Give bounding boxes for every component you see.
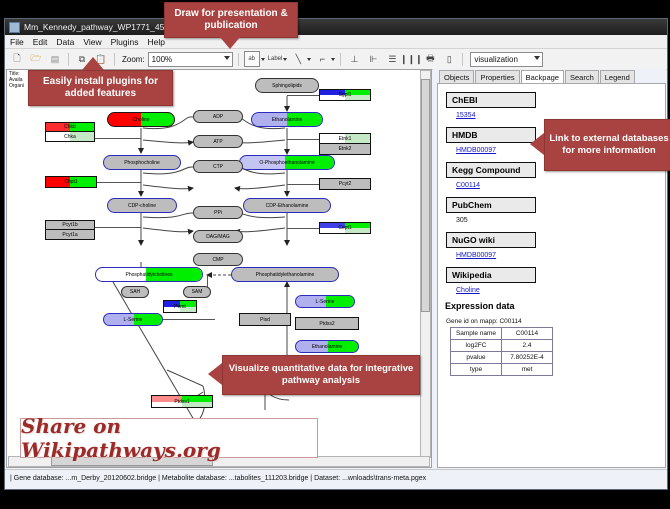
table-row: log2FC 2.4 bbox=[451, 340, 553, 352]
node-ethanolamine[interactable]: Ethanolamine bbox=[251, 112, 323, 127]
database-link[interactable]: Choline bbox=[456, 287, 665, 294]
scrollbar-thumb[interactable] bbox=[421, 79, 430, 313]
database-block-nugo: NuGO wiki HMDB00097 bbox=[446, 230, 665, 259]
database-link[interactable]: HMDB00097 bbox=[456, 252, 665, 259]
database-block-wikipedia: Wikipedia Choline bbox=[446, 265, 665, 294]
gene-chkb[interactable]: Chkb bbox=[45, 122, 95, 132]
node-sah[interactable]: SAH bbox=[121, 286, 149, 298]
node-label: Chkb bbox=[64, 124, 76, 130]
callout-visualize-quantitative: Visualize quantitative data for integrat… bbox=[222, 355, 420, 395]
group-icon[interactable]: ⊩ bbox=[365, 51, 381, 67]
gene-cept1[interactable]: Cept1 bbox=[319, 222, 371, 234]
node-phosphatidylcholines[interactable]: Phosphatidylcholines bbox=[95, 267, 203, 282]
connector-line bbox=[95, 182, 141, 183]
menu-item-help[interactable]: Help bbox=[148, 37, 165, 47]
node-label: Pcyt1a bbox=[62, 232, 77, 238]
table-row: Sample name C00114 bbox=[451, 328, 553, 340]
node-label: Ethanolamine bbox=[312, 344, 343, 350]
node-label: DAG/MAG bbox=[206, 234, 230, 240]
gene-sgpl1[interactable]: Sgpl1 bbox=[319, 89, 371, 101]
table-cell-value: met bbox=[502, 364, 553, 376]
connector-line bbox=[95, 227, 141, 228]
node-label: Pcyt2 bbox=[339, 181, 352, 187]
callout-arrow-down bbox=[219, 36, 241, 49]
callout-external-databases: Link to external databases for more info… bbox=[544, 119, 670, 171]
pathway-info-block: Title: Availa Organi bbox=[9, 71, 24, 89]
gene-pemt[interactable]: Pemt bbox=[163, 300, 197, 313]
node-label: Pemt bbox=[174, 304, 186, 310]
node-label: PPi bbox=[214, 210, 222, 216]
table-cell-value: 2.4 bbox=[502, 340, 553, 352]
align-icon[interactable]: ⊥ bbox=[346, 51, 362, 67]
toolbar-separator-1 bbox=[68, 53, 69, 66]
node-label: Sphingolipids bbox=[272, 83, 302, 89]
tab-legend[interactable]: Legend bbox=[600, 70, 635, 83]
node-label: L-Serine bbox=[124, 317, 143, 323]
node-label: SAH bbox=[130, 289, 140, 295]
tab-properties[interactable]: Properties bbox=[475, 70, 519, 83]
table-cell-value: 7.80252E-4 bbox=[502, 352, 553, 364]
node-choline-top[interactable]: Choline bbox=[107, 112, 175, 127]
gene-pisd[interactable]: Pisd bbox=[239, 313, 291, 326]
expression-data-table: Sample name C00114 log2FC 2.4 pvalue 7.8… bbox=[450, 327, 553, 376]
node-label: Choline bbox=[133, 117, 150, 123]
node-label: CMP bbox=[212, 257, 223, 263]
label-icon: Label bbox=[268, 56, 283, 62]
callout-share-wikipathways: Share on Wikipathways.org bbox=[20, 418, 318, 458]
node-label: CTP bbox=[213, 164, 223, 170]
gene-chka[interactable]: Chka bbox=[45, 132, 95, 142]
connector-line bbox=[95, 138, 141, 139]
table-cell-value: C00114 bbox=[502, 328, 553, 340]
chevron-down-icon bbox=[224, 56, 230, 60]
toolbar-separator-4 bbox=[340, 53, 341, 66]
gene-etnk2[interactable]: Etnk2 bbox=[319, 144, 371, 155]
node-l-serine-1[interactable]: L-Serine bbox=[103, 313, 163, 326]
connector-line bbox=[287, 95, 319, 96]
connector-line bbox=[287, 228, 319, 229]
node-label: Chka bbox=[64, 134, 76, 140]
app-icon bbox=[9, 22, 20, 33]
database-header: Kegg Compound bbox=[446, 162, 536, 178]
tab-backpage[interactable]: Backpage bbox=[521, 70, 564, 84]
line-icon: ╲ bbox=[290, 51, 306, 67]
table-cell-key: log2FC bbox=[451, 340, 502, 352]
toolbar-separator-3 bbox=[238, 53, 239, 66]
visualization-combobox[interactable]: visualization bbox=[470, 52, 543, 67]
node-label: ATP bbox=[213, 139, 222, 145]
database-header: NuGO wiki bbox=[446, 232, 536, 248]
connector-line bbox=[287, 184, 319, 185]
chevron-down-icon bbox=[331, 58, 335, 61]
database-value: 305 bbox=[456, 217, 665, 224]
node-ethanolamine-2[interactable]: Ethanolamine bbox=[295, 340, 359, 353]
text-tool-button[interactable]: ab bbox=[244, 51, 265, 67]
menu-item-view[interactable]: View bbox=[83, 37, 101, 47]
print-icon[interactable]: 🖶 bbox=[422, 51, 438, 67]
node-atp[interactable]: ATP bbox=[193, 135, 243, 148]
info-organism: Organi bbox=[9, 83, 24, 89]
database-header: PubChem bbox=[446, 197, 536, 213]
node-ctp[interactable]: CTP bbox=[193, 160, 243, 173]
chevron-down-icon bbox=[261, 58, 265, 61]
gene-pcyt2[interactable]: Pcyt2 bbox=[319, 178, 371, 190]
save-file-icon[interactable]: ▤ bbox=[47, 51, 63, 67]
database-link[interactable]: C00114 bbox=[456, 182, 665, 189]
gene-id-line: Gene id on mapp: C00114 bbox=[446, 318, 665, 325]
node-phosphocholine[interactable]: Phosphocholine bbox=[103, 155, 181, 170]
connector-line bbox=[287, 139, 319, 140]
node-label: Pcyt1b bbox=[62, 222, 77, 228]
callout-arrow-left bbox=[208, 363, 222, 385]
gene-chpt1[interactable]: Chpt1 bbox=[45, 176, 97, 188]
statusbar: | Gene database: ...m_Derby_20120602.bri… bbox=[5, 469, 667, 489]
node-label: Ptdss1 bbox=[174, 399, 189, 405]
zoom-combobox[interactable]: 100% bbox=[148, 52, 233, 67]
menubar: File Edit Data View Plugins Help bbox=[5, 35, 667, 49]
chevron-down-icon bbox=[534, 56, 540, 60]
node-dagmag[interactable]: DAG/MAG bbox=[193, 230, 243, 243]
table-row: pvalue 7.80252E-4 bbox=[451, 352, 553, 364]
node-label: Etnk1 bbox=[339, 136, 352, 142]
node-label: Etnk2 bbox=[339, 146, 352, 152]
share-text: Share on Wikipathways.org bbox=[21, 414, 317, 462]
database-block-pubchem: PubChem 305 bbox=[446, 195, 665, 224]
callout-arrow-left bbox=[530, 133, 544, 155]
database-header: HMDB bbox=[446, 127, 536, 143]
screenshot-root: Mm_Kennedy_pathway_WP1771_45176.gpml Fil… bbox=[0, 0, 670, 509]
connector-icon: ⌐ bbox=[314, 51, 330, 67]
node-label: Chpt1 bbox=[64, 179, 77, 185]
menu-item-data[interactable]: Data bbox=[56, 37, 74, 47]
gene-pcyt1a[interactable]: Pcyt1a bbox=[45, 230, 95, 240]
line-tool-button[interactable]: ╲ bbox=[290, 51, 311, 67]
gene-ptdss2[interactable]: Ptdss2 bbox=[295, 317, 359, 330]
node-sam[interactable]: SAM bbox=[183, 286, 211, 298]
node-label: L-Serine bbox=[316, 299, 335, 305]
zoom-value: 100% bbox=[152, 55, 172, 64]
label-tool-button[interactable]: Label bbox=[268, 56, 288, 62]
node-phosphatidylethanolamine[interactable]: Phosphatidylethanolamine bbox=[231, 267, 339, 282]
window-titlebar: Mm_Kennedy_pathway_WP1771_45176.gpml bbox=[5, 19, 667, 35]
node-label: Phosphatidylethanolamine bbox=[256, 272, 315, 278]
node-l-serine-2[interactable]: L-Serine bbox=[295, 295, 355, 308]
side-panel-tabs: Objects Properties Backpage Search Legen… bbox=[433, 69, 666, 83]
callout-arrow-up bbox=[82, 57, 104, 70]
node-label: Cept1 bbox=[338, 225, 351, 231]
node-cmp[interactable]: CMP bbox=[193, 253, 243, 266]
node-label: Ethanolamine bbox=[272, 117, 303, 123]
node-label: ADP bbox=[213, 114, 223, 120]
node-cdp-choline[interactable]: CDP-choline bbox=[107, 198, 177, 213]
node-ppi[interactable]: PPi bbox=[193, 206, 243, 219]
node-adp[interactable]: ADP bbox=[193, 110, 243, 123]
node-cdp-ethanolamine[interactable]: CDP-Ethanolamine bbox=[243, 198, 331, 213]
table-cell-key: pvalue bbox=[451, 352, 502, 364]
connector-tool-button[interactable]: ⌐ bbox=[314, 51, 335, 67]
text-icon: ab bbox=[244, 51, 260, 67]
database-block-chebi: ChEBI 15354 bbox=[446, 90, 665, 119]
pathway-canvas[interactable]: Title: Availa Organi bbox=[6, 69, 432, 468]
database-header: ChEBI bbox=[446, 92, 536, 108]
open-file-icon[interactable]: 🗁 bbox=[28, 51, 44, 67]
order-icon[interactable]: ☰ bbox=[384, 51, 400, 67]
node-o-phosphoethanolamine[interactable]: O-Phosphoethanolamine bbox=[239, 155, 335, 170]
node-label: Phosphocholine bbox=[124, 160, 160, 166]
node-label: CDP-Ethanolamine bbox=[266, 203, 309, 209]
statusbar-text: | Gene database: ...m_Derby_20120602.bri… bbox=[10, 475, 426, 482]
callout-install-plugins: Easily install plugins for added feature… bbox=[28, 70, 173, 106]
chevron-down-icon bbox=[307, 58, 311, 61]
database-header: Wikipedia bbox=[446, 267, 536, 283]
tab-search[interactable]: Search bbox=[565, 70, 599, 83]
new-file-icon[interactable]: 🗋 bbox=[9, 51, 25, 67]
distribute-icon[interactable]: ❙❙❙ bbox=[403, 51, 419, 67]
node-label: Sgpl1 bbox=[339, 92, 352, 98]
gene-etnk1[interactable]: Etnk1 bbox=[319, 133, 371, 144]
node-label: O-Phosphoethanolamine bbox=[259, 160, 314, 166]
node-label: Pisd bbox=[260, 317, 270, 323]
node-label: Ptdss2 bbox=[319, 321, 334, 327]
gene-ptdss1[interactable]: Ptdss1 bbox=[151, 395, 213, 408]
toolbar-separator-5 bbox=[462, 53, 463, 66]
table-cell-key: type bbox=[451, 364, 502, 376]
gene-pcyt1b[interactable]: Pcyt1b bbox=[45, 220, 95, 230]
node-sphingolipids[interactable]: Sphingolipids bbox=[255, 78, 319, 93]
node-label: SAM bbox=[192, 289, 203, 295]
database-link[interactable]: 15354 bbox=[456, 112, 665, 119]
table-row: type met bbox=[451, 364, 553, 376]
properties-icon[interactable]: ▯ bbox=[441, 51, 457, 67]
node-label: Phosphatidylcholines bbox=[126, 272, 173, 278]
expression-data-heading: Expression data bbox=[445, 301, 665, 311]
callout-draw-for-publication: Draw for presentation & publication bbox=[164, 2, 298, 38]
toolbar: 🗋 🗁 ▤ ⧉ 📋 Zoom: 100% ab Label ╲ bbox=[5, 49, 667, 70]
chevron-down-icon bbox=[283, 58, 287, 61]
menu-item-file[interactable]: File bbox=[10, 37, 24, 47]
menu-item-edit[interactable]: Edit bbox=[33, 37, 48, 47]
zoom-label: Zoom: bbox=[122, 55, 145, 64]
node-label: CDP-choline bbox=[128, 203, 156, 209]
table-cell-key: Sample name bbox=[451, 328, 502, 340]
visualization-value: visualization bbox=[474, 55, 518, 64]
menu-item-plugins[interactable]: Plugins bbox=[111, 37, 139, 47]
canvas-vertical-scrollbar[interactable] bbox=[420, 70, 431, 458]
toolbar-separator-2 bbox=[114, 53, 115, 66]
connector-line bbox=[163, 319, 215, 320]
tab-objects[interactable]: Objects bbox=[439, 70, 474, 83]
